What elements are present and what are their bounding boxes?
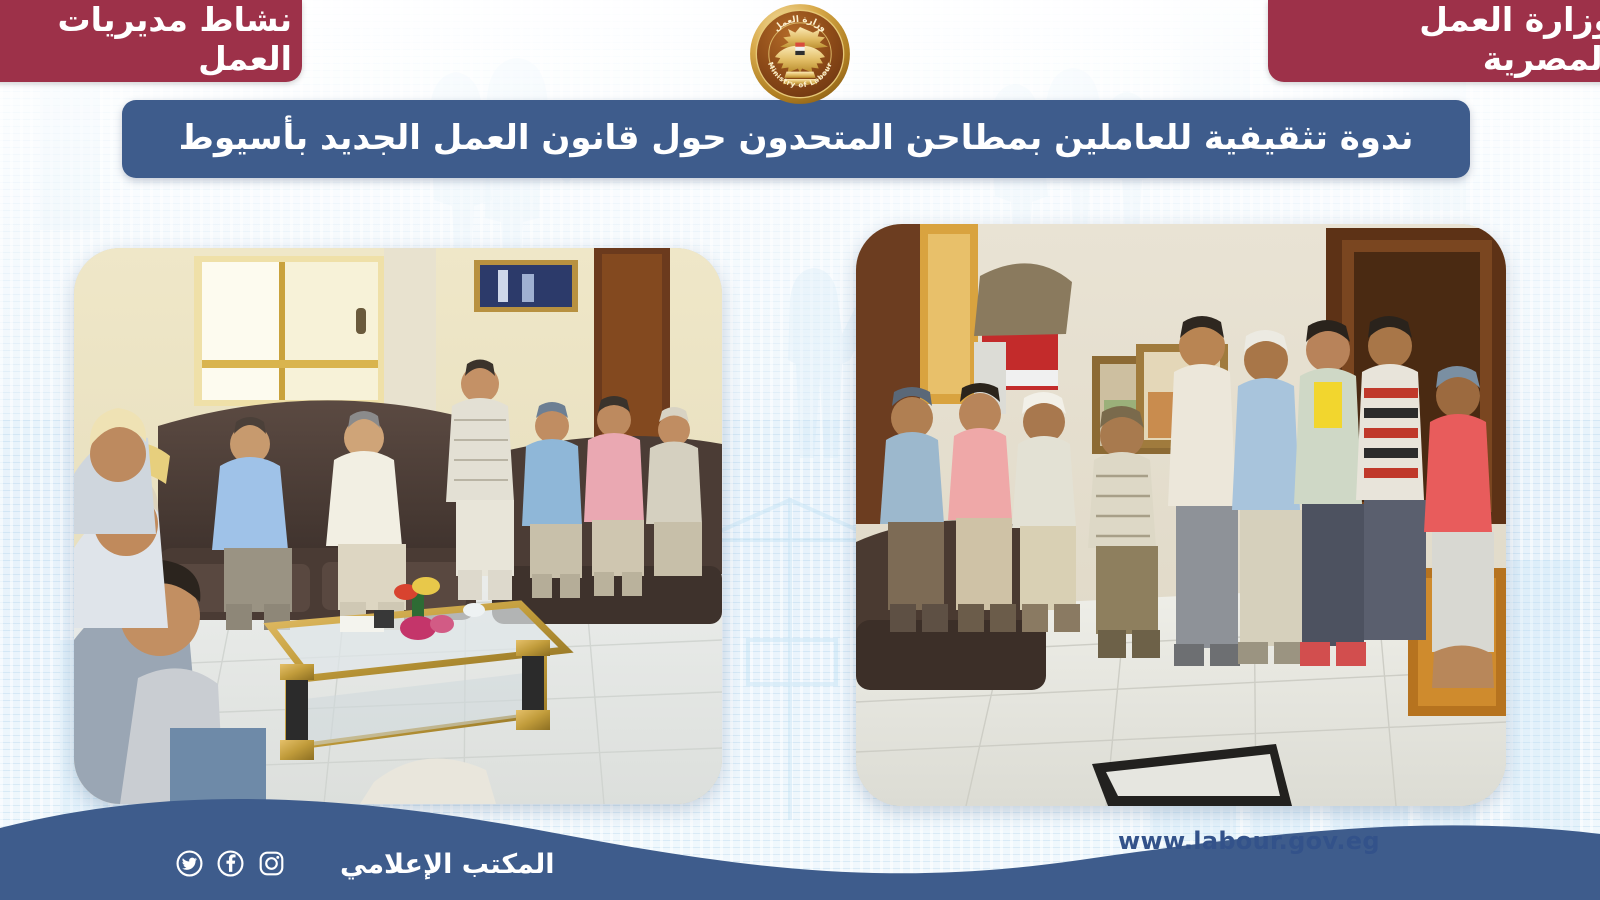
photo-left: [74, 248, 722, 804]
facebook-icon[interactable]: [217, 850, 244, 877]
tag-right-label: وزارة العمل المصرية: [1278, 0, 1600, 78]
media-office-label: المكتب الإعلامي: [340, 849, 555, 880]
tag-left-label: نشاط مديريات العمل: [0, 0, 292, 78]
photo-right: [856, 224, 1506, 806]
photo-right-illustration: [856, 224, 1506, 806]
event-title-banner: ندوة تثقيفية للعاملين بمطاحن المتحدون حو…: [122, 100, 1470, 178]
poster-root: نشاط مديريات العمل وزارة العمل المصرية: [0, 0, 1600, 900]
website-url[interactable]: www.labour.gov.eg: [1118, 827, 1380, 855]
instagram-icon[interactable]: [258, 850, 285, 877]
page-title: ندوة تثقيفية للعاملين بمطاحن المتحدون حو…: [153, 118, 1440, 159]
ministry-of-labour-emblem-icon: وزارة العمل Ministry of Labour: [748, 2, 852, 106]
footer-social-links[interactable]: [176, 850, 285, 877]
photo-left-illustration: [74, 248, 722, 804]
tag-ministry-name: وزارة العمل المصرية: [1268, 0, 1600, 82]
twitter-icon[interactable]: [176, 850, 203, 877]
tag-directorates-activity: نشاط مديريات العمل: [0, 0, 302, 82]
